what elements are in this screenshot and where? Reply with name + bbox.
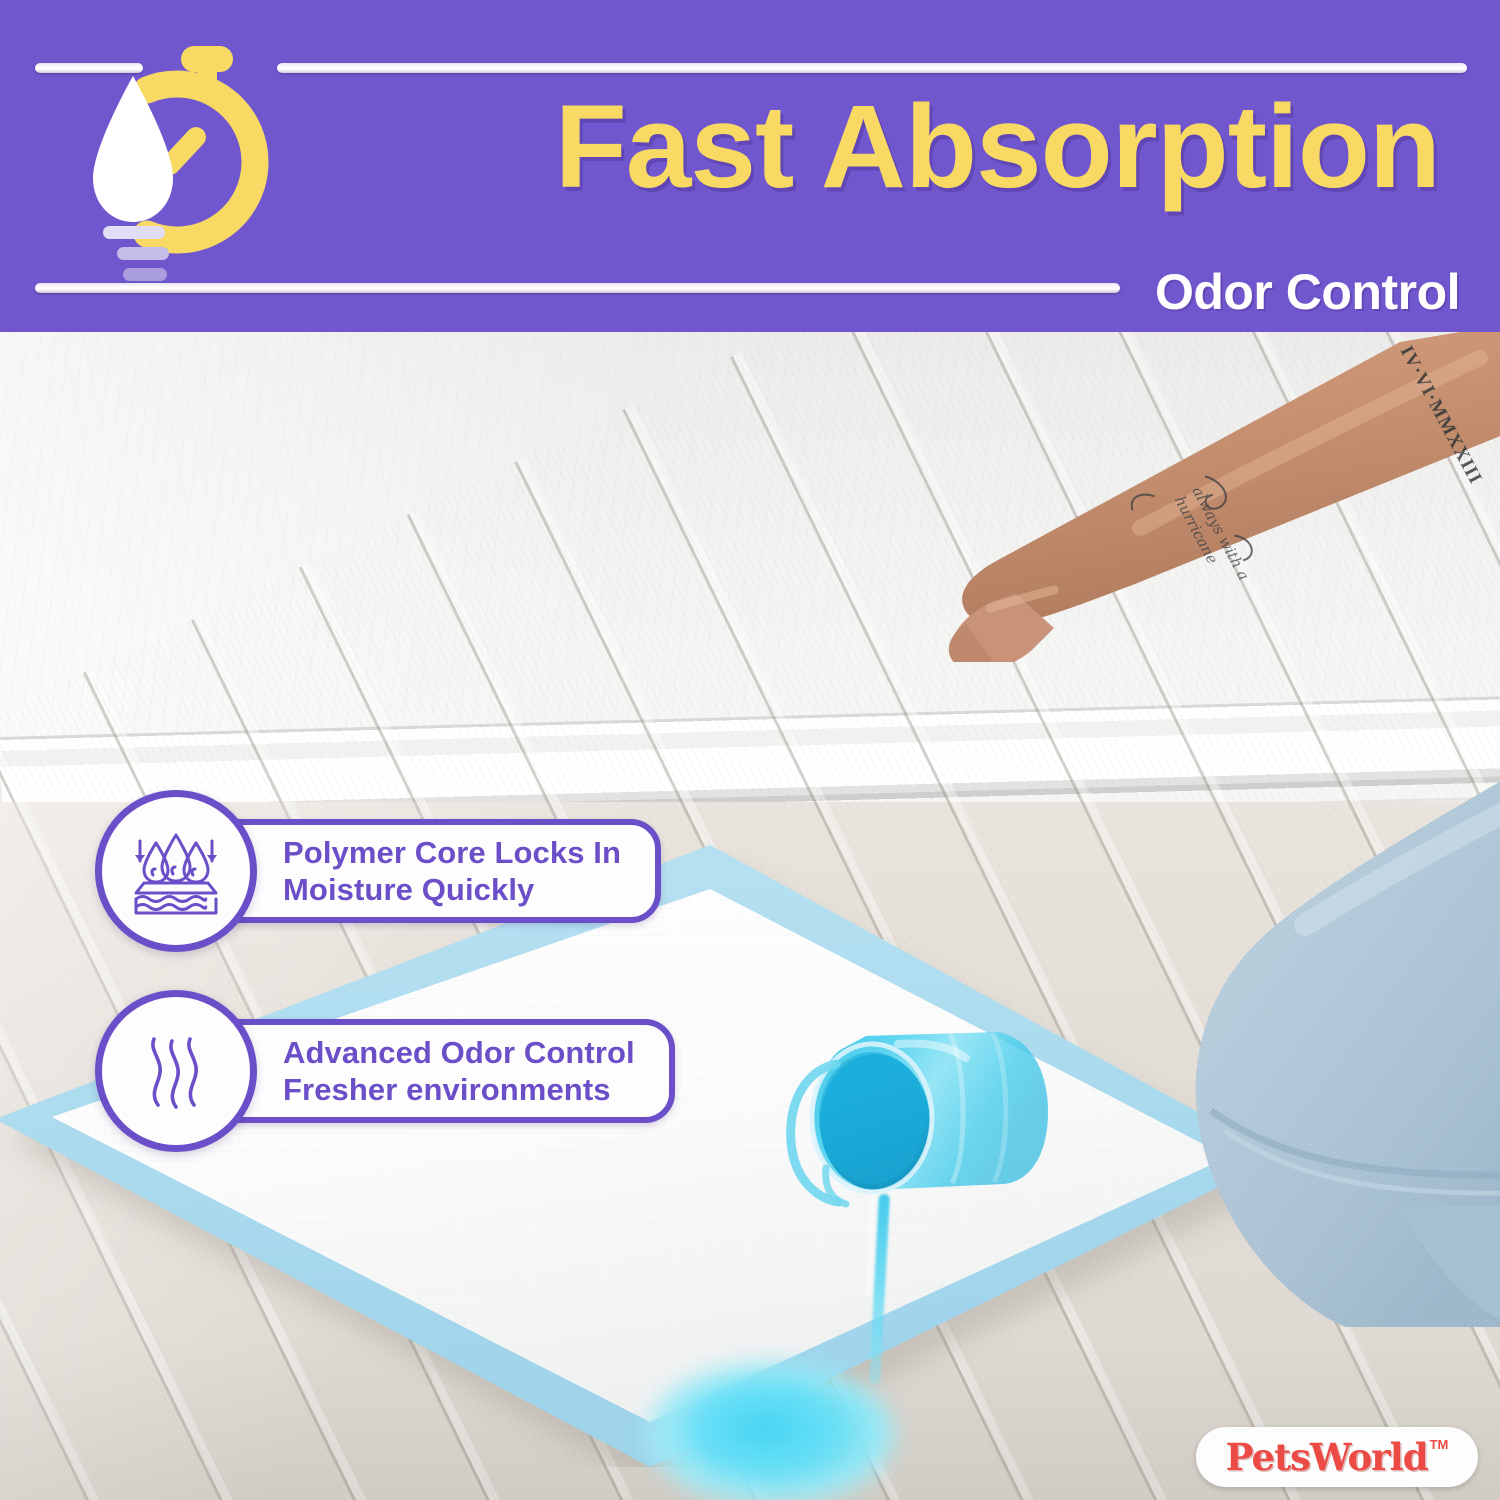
droplet-stopwatch-icon (75, 38, 325, 288)
divider-rule-top-right (277, 63, 1467, 73)
brand-name: PetsWorld (1226, 1435, 1428, 1479)
feature-callout-odor-control[interactable]: Advanced Odor Control Fresher environmen… (95, 990, 675, 1152)
header-title: Fast Absorption (380, 88, 1440, 206)
feature-text-polymer-core: Polymer Core Locks In Moisture Quickly (283, 834, 621, 908)
header-subtitle: Odor Control (1155, 263, 1460, 321)
trademark-symbol: TM (1430, 1437, 1449, 1452)
hand-and-forearm: IV·VI·MMXXIII always with a hurricane (840, 332, 1500, 662)
product-infographic: Fast Absorption Odor Control (0, 0, 1500, 1500)
puddle-core (690, 1387, 840, 1472)
jeans-knee (1185, 707, 1500, 1327)
absorbing-droplets-icon (95, 790, 257, 952)
feature-text-odor-control: Advanced Odor Control Fresher environmen… (283, 1034, 635, 1108)
feature-callout-polymer-core[interactable]: Polymer Core Locks In Moisture Quickly (95, 790, 661, 952)
liquid-pitcher (780, 972, 1110, 1222)
product-photo: IV·VI·MMXXIII always with a hurricane (0, 332, 1500, 1500)
odor-waves-icon (95, 990, 257, 1152)
brand-logo[interactable]: PetsWorld TM (1196, 1427, 1478, 1487)
header-banner: Fast Absorption Odor Control (0, 0, 1500, 332)
